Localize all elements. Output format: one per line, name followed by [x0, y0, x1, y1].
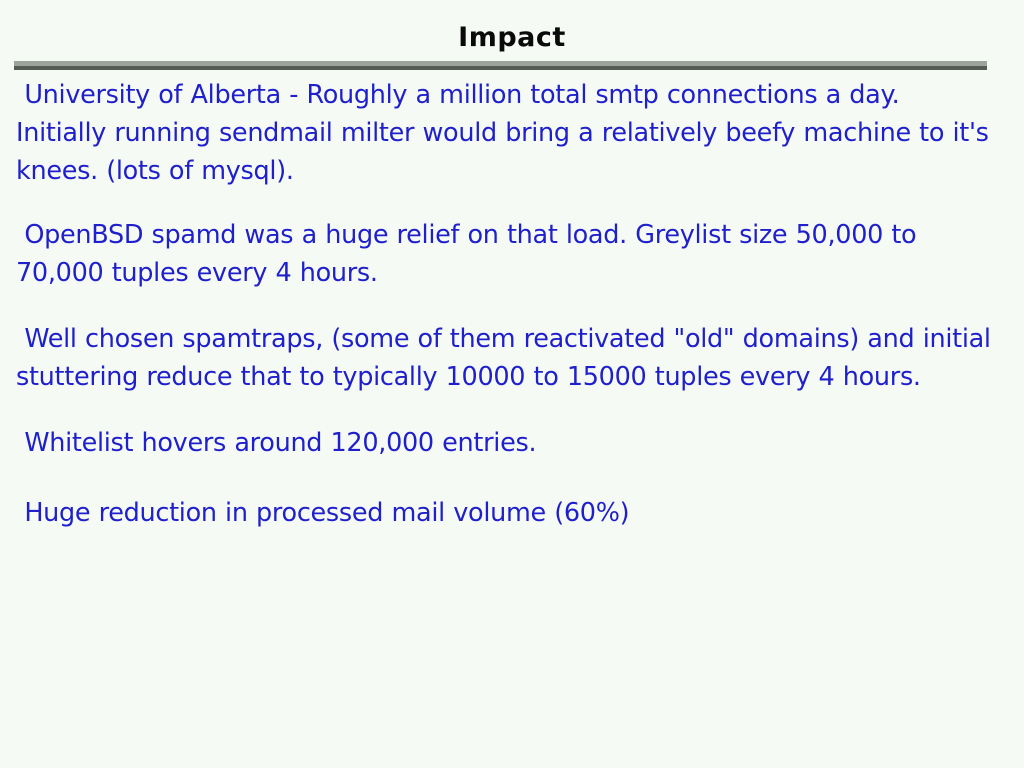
body-paragraph: OpenBSD spamd was a huge relief on that … — [16, 216, 1001, 292]
body-paragraph: Whitelist hovers around 120,000 entries. — [16, 424, 996, 462]
body-paragraph: Well chosen spamtraps, (some of them rea… — [16, 320, 991, 396]
presentation-slide: Impact University of Alberta - Roughly a… — [0, 0, 1024, 768]
body-paragraph: Huge reduction in processed mail volume … — [16, 494, 996, 532]
body-paragraph: University of Alberta - Roughly a millio… — [16, 76, 996, 190]
slide-body: University of Alberta - Roughly a millio… — [16, 76, 1008, 532]
title-divider — [14, 61, 987, 70]
title-divider-dark-band — [14, 66, 987, 70]
page-title: Impact — [0, 22, 1024, 54]
